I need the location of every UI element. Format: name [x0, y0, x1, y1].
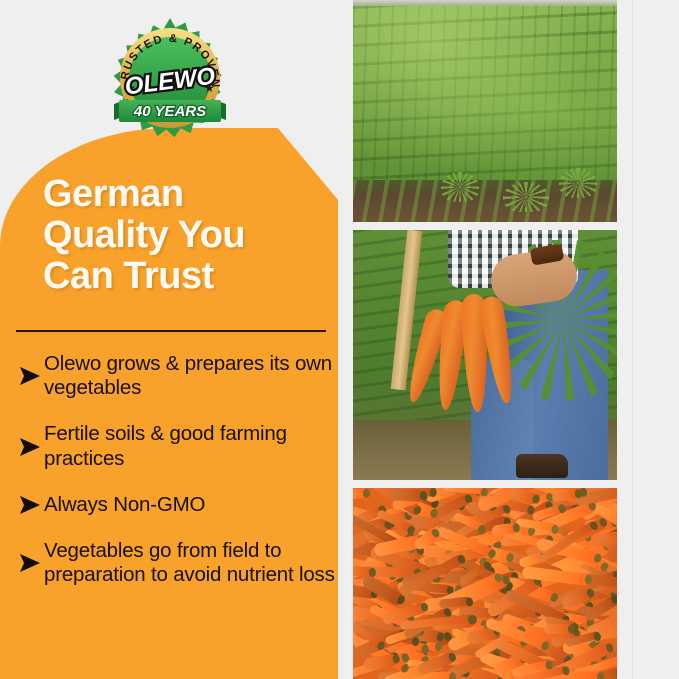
infographic-root: TRUSTED & PROVEN ★ ★ OLEWO 40 YEARS Germ… — [0, 0, 679, 679]
list-item: Always Non-GMO — [16, 493, 336, 517]
list-item: Vegetables go from field to preparation … — [16, 539, 336, 587]
list-item-label: Always Non-GMO — [44, 493, 205, 517]
photo-carrot-field — [353, 0, 617, 222]
field-plant-tuft — [441, 172, 479, 202]
arrow-right-icon — [16, 365, 44, 387]
seal-ribbon: 40 YEARS — [114, 99, 226, 122]
seal-ribbon-text: 40 YEARS — [133, 103, 206, 120]
headline-line-1: German — [43, 174, 333, 215]
carrot-pile-surface — [353, 488, 617, 679]
carrot — [364, 654, 400, 671]
list-item-label: Olewo grows & prepares its own vegetable… — [44, 352, 336, 400]
photo-column — [353, 0, 617, 679]
list-item: Olewo grows & prepares its own vegetable… — [16, 352, 336, 400]
page-title: German Quality You Can Trust — [43, 174, 333, 297]
benefits-list: Olewo grows & prepares its own vegetable… — [16, 352, 336, 609]
right-edge-divider — [632, 0, 633, 679]
photo-farmer-holding-carrots — [353, 230, 617, 480]
list-item-label: Vegetables go from field to preparation … — [44, 539, 336, 587]
list-item: Fertile soils & good farming practices — [16, 422, 336, 470]
carrot — [353, 488, 369, 500]
olewo-trusted-proven-seal: TRUSTED & PROVEN ★ ★ OLEWO 40 YEARS — [108, 16, 232, 140]
heading-divider — [16, 330, 326, 332]
farmer-boot — [516, 454, 568, 478]
headline-line-2: Quality You — [43, 215, 333, 256]
arrow-right-icon — [16, 494, 44, 516]
arrow-right-icon — [16, 552, 44, 574]
field-plant-tuft — [559, 168, 597, 198]
list-item-label: Fertile soils & good farming practices — [44, 422, 336, 470]
headline-line-3: Can Trust — [43, 256, 333, 297]
carrot — [353, 565, 374, 577]
field-plant-tuft — [503, 182, 549, 212]
carrot — [544, 624, 573, 635]
photo-harvested-carrot-pile — [353, 488, 617, 679]
arrow-right-icon — [16, 436, 44, 458]
